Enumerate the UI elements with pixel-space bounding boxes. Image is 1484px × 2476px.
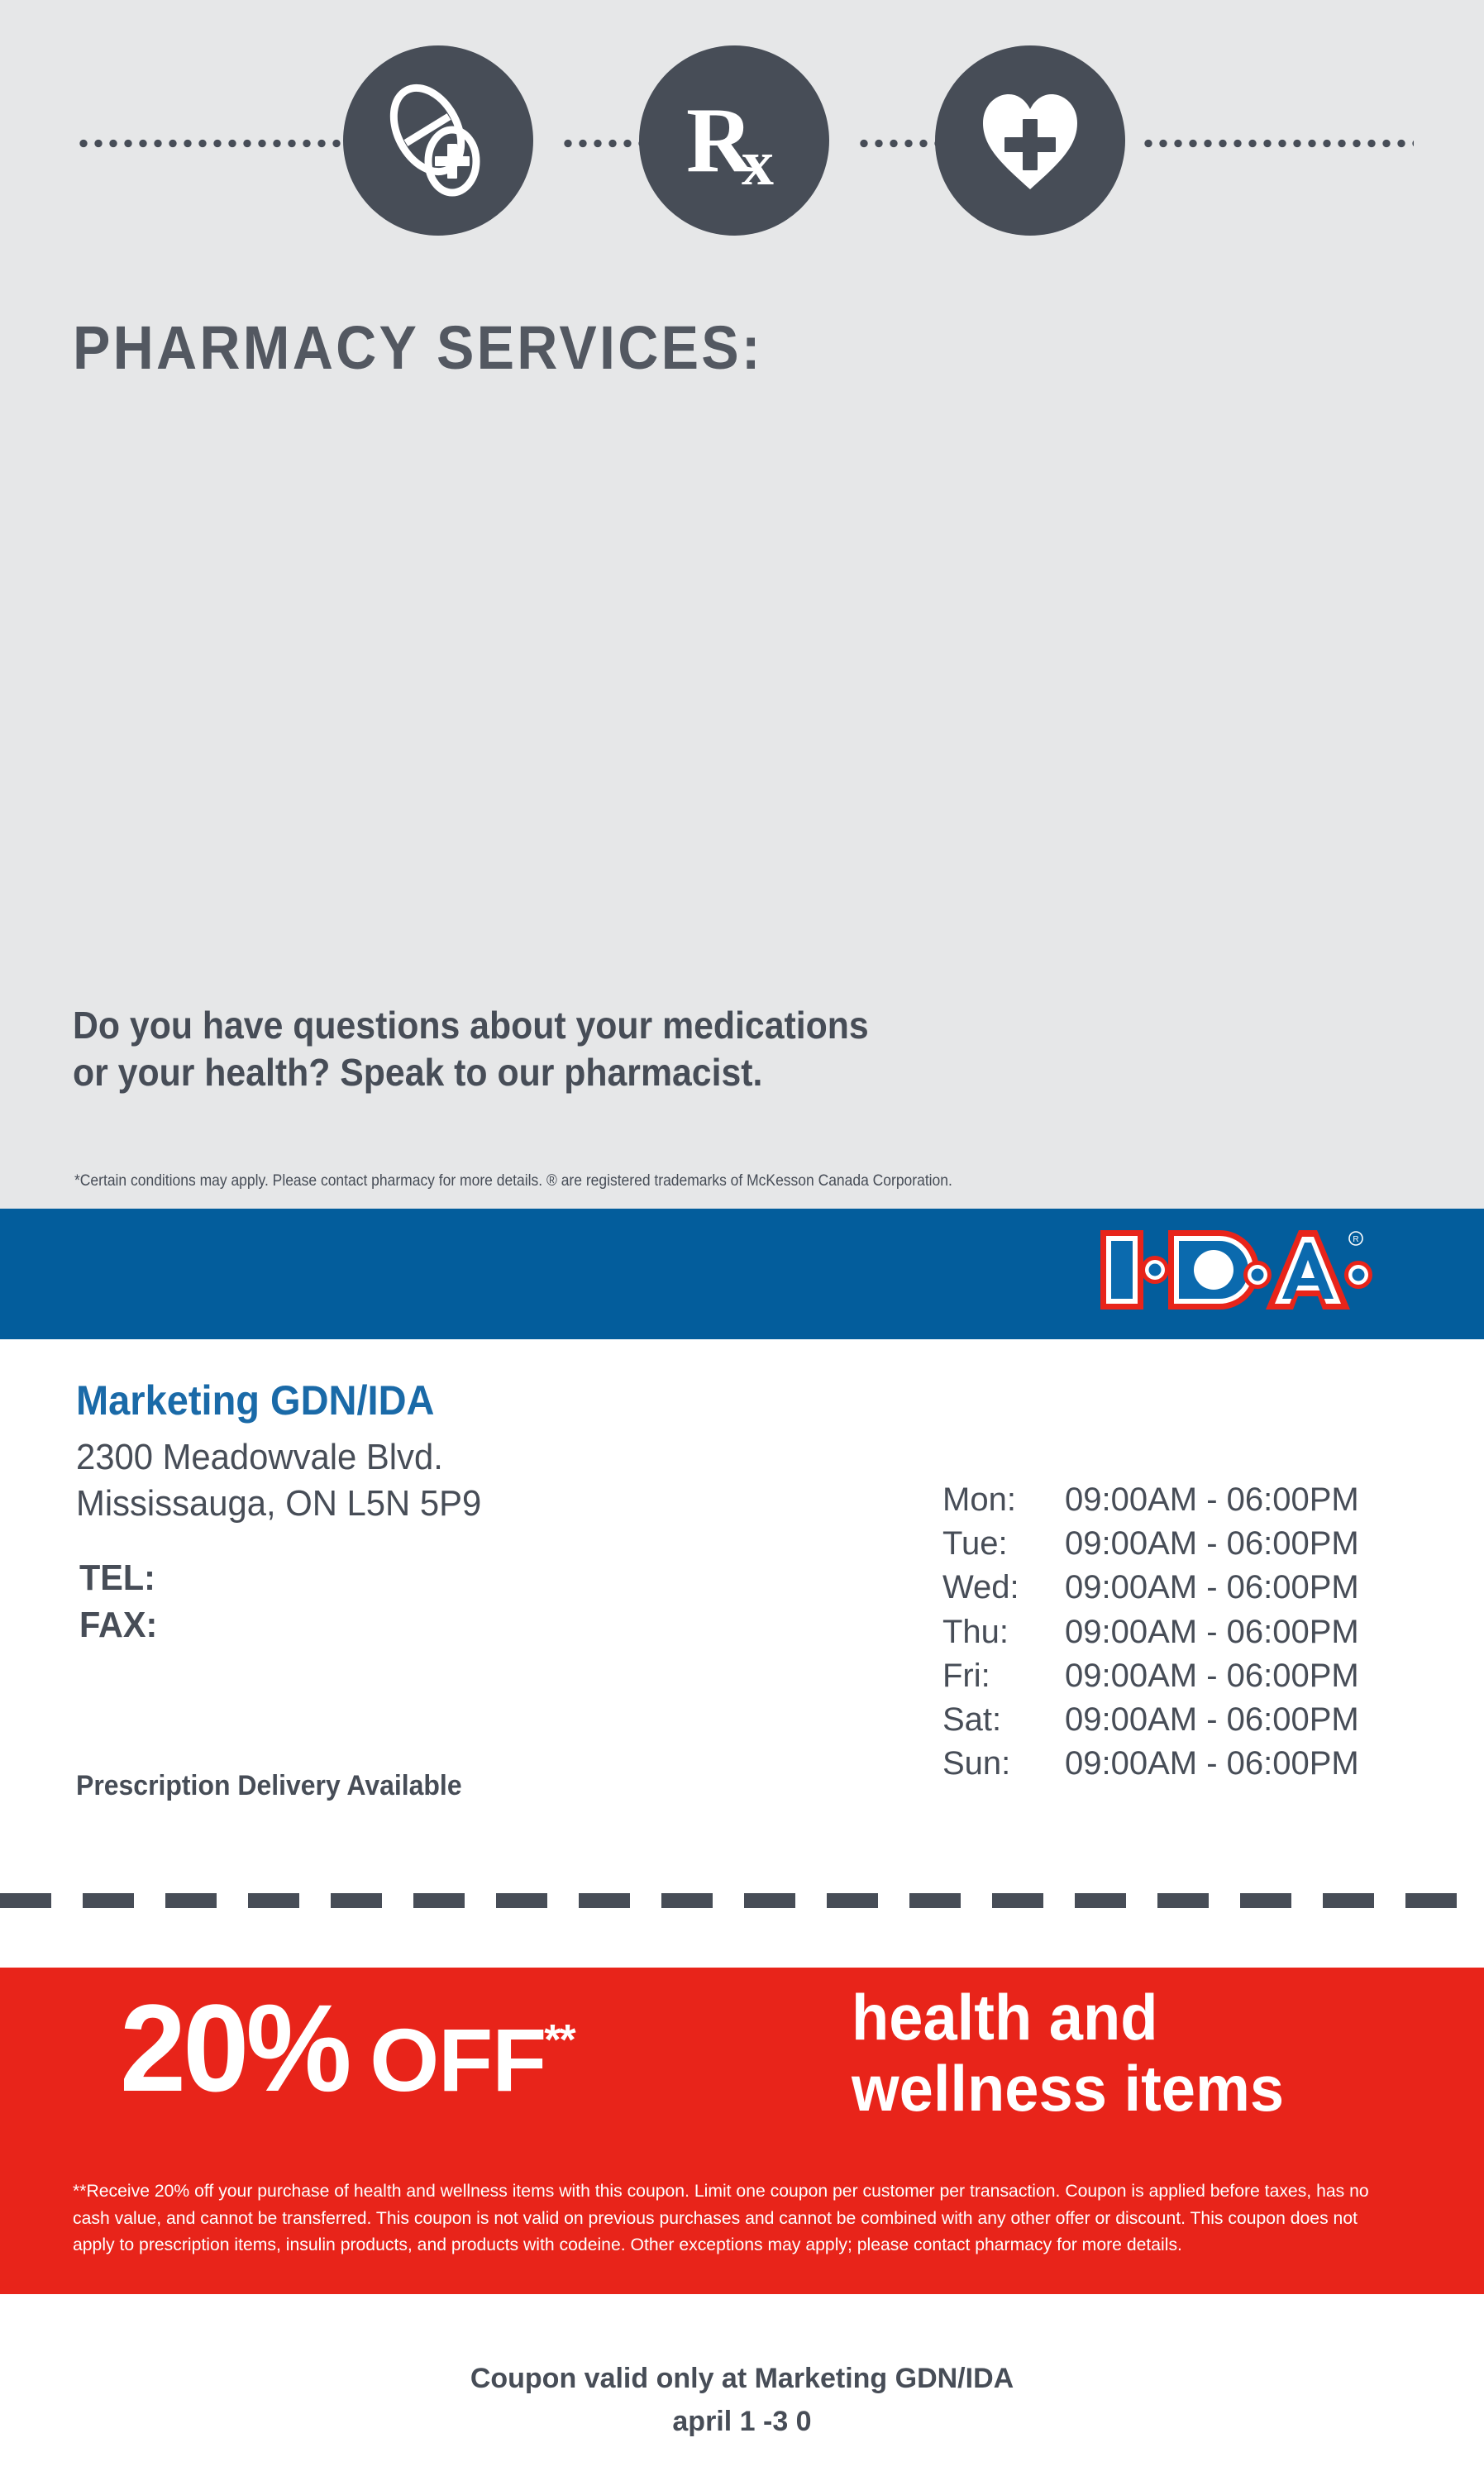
store-name: Marketing GDN/IDA — [76, 1376, 435, 1424]
coupon-footer: Coupon valid only at Marketing GDN/IDA a… — [0, 2294, 1484, 2476]
coupon-cut-line — [0, 1893, 1484, 1908]
hours-day-label: Fri: — [942, 1654, 1065, 1698]
question-line-1: Do you have questions about your medicat… — [73, 1002, 869, 1049]
brand-band: R — [0, 1209, 1484, 1339]
hours-row: Wed: 09:00AM - 06:00PM — [942, 1566, 1359, 1610]
store-address: 2300 Meadowvale Blvd. Mississauga, ON L5… — [76, 1434, 481, 1528]
discount-off: OFF — [370, 2016, 546, 2105]
svg-text:R: R — [1353, 1235, 1358, 1244]
coupon-subject-line-2: wellness items — [852, 2054, 1284, 2125]
dotted-rule-right — [1141, 139, 1414, 148]
hours-row: Tue: 09:00AM - 06:00PM — [942, 1522, 1359, 1566]
question-line-2: or your health? Speak to our pharmacist. — [73, 1049, 869, 1096]
legal-disclaimer-top: *Certain conditions may apply. Please co… — [74, 1172, 952, 1190]
fax-label: FAX: — [79, 1601, 157, 1648]
heart-plus-icon — [935, 45, 1125, 236]
pills-plus-icon — [343, 45, 533, 236]
hours-row: Thu: 09:00AM - 06:00PM — [942, 1610, 1359, 1654]
flyer-page: Rx PHARMACY SERVICES: Do you have questi… — [0, 0, 1484, 2476]
hours-row: Mon: 09:00AM - 06:00PM — [942, 1478, 1359, 1522]
store-info-panel: Marketing GDN/IDA 2300 Meadowvale Blvd. … — [0, 1339, 1484, 1885]
hours-time-value: 09:00AM - 06:00PM — [1065, 1742, 1359, 1786]
hours-row: Sat: 09:00AM - 06:00PM — [942, 1698, 1359, 1742]
hours-row: Fri: 09:00AM - 06:00PM — [942, 1654, 1359, 1698]
store-contact: TEL: FAX: — [79, 1554, 157, 1648]
coupon-valid-dates: april 1 -3 0 — [0, 2406, 1484, 2438]
hours-time-value: 09:00AM - 06:00PM — [1065, 1522, 1359, 1566]
coupon-block: 20%OFF** health and wellness items **Rec… — [0, 1968, 1484, 2294]
store-hours: Mon: 09:00AM - 06:00PM Tue: 09:00AM - 06… — [942, 1478, 1359, 1786]
dotted-rule-left — [76, 139, 349, 148]
rx-glyph: Rx — [686, 94, 782, 187]
hours-day-label: Sat: — [942, 1698, 1065, 1742]
footnote-marker: ** — [544, 2019, 574, 2062]
hours-row: Sun: 09:00AM - 06:00PM — [942, 1742, 1359, 1786]
coupon-valid-at: Coupon valid only at Marketing GDN/IDA — [0, 2363, 1484, 2395]
hours-day-label: Mon: — [942, 1478, 1065, 1522]
hours-day-label: Thu: — [942, 1610, 1065, 1654]
hours-day-label: Tue: — [942, 1522, 1065, 1566]
coupon-subject-line-1: health and — [852, 1982, 1284, 2054]
coupon-discount: 20%OFF** — [120, 1986, 576, 2110]
discount-percent: 20% — [120, 1986, 349, 2110]
icon-banner: Rx — [0, 45, 1484, 236]
telephone-label: TEL: — [79, 1554, 157, 1601]
hours-time-value: 09:00AM - 06:00PM — [1065, 1610, 1359, 1654]
pharmacist-question: Do you have questions about your medicat… — [73, 1002, 869, 1095]
hours-day-label: Wed: — [942, 1566, 1065, 1610]
coupon-subject: health and wellness items — [852, 1982, 1284, 2125]
hours-time-value: 09:00AM - 06:00PM — [1065, 1698, 1359, 1742]
ida-logo: R — [1095, 1224, 1385, 1316]
coupon-terms: **Receive 20% off your purchase of healt… — [73, 2178, 1396, 2259]
coupon-offer: 20%OFF** health and wellness items — [0, 1968, 1484, 2174]
page-title: PHARMACY SERVICES: — [73, 312, 763, 383]
address-line-2: Mississauga, ON L5N 5P9 — [76, 1481, 481, 1527]
hours-time-value: 09:00AM - 06:00PM — [1065, 1654, 1359, 1698]
pharmacy-services-panel: Rx PHARMACY SERVICES: Do you have questi… — [0, 0, 1484, 1209]
hours-time-value: 09:00AM - 06:00PM — [1065, 1478, 1359, 1522]
delivery-note: Prescription Delivery Available — [76, 1770, 462, 1802]
dashed-rule — [0, 1893, 1484, 1908]
hours-time-value: 09:00AM - 06:00PM — [1065, 1566, 1359, 1610]
hours-day-label: Sun: — [942, 1742, 1065, 1786]
address-line-1: 2300 Meadowvale Blvd. — [76, 1434, 481, 1481]
rx-icon: Rx — [639, 45, 829, 236]
